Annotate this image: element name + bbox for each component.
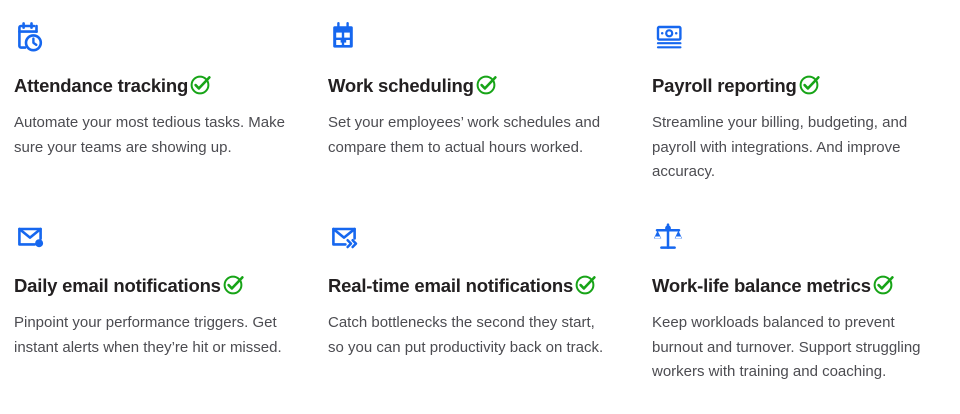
feature-body: Keep workloads balanced to prevent burno… — [652, 311, 938, 385]
feature-body: Catch bottlenecks the second they start,… — [328, 311, 608, 360]
feature-heading: Attendance tracking — [14, 73, 300, 97]
feature-grid: Attendance tracking Automate your most t… — [0, 0, 960, 414]
check-circle-icon — [475, 73, 498, 96]
calendar-clock-icon — [14, 18, 60, 58]
feature-card-payroll-reporting: Payroll reporting Streamline your billin… — [644, 0, 960, 200]
feature-body: Automate your most tedious tasks. Make s… — [14, 111, 300, 160]
feature-card-work-scheduling: Work scheduling Set your employees’ work… — [322, 0, 644, 200]
feature-heading-text: Work scheduling — [328, 75, 474, 96]
feature-card-attendance-tracking: Attendance tracking Automate your most t… — [0, 0, 322, 200]
feature-body: Pinpoint your performance triggers. Get … — [14, 311, 300, 360]
feature-heading: Work scheduling — [328, 73, 622, 97]
feature-heading: Work-life balance metrics — [652, 273, 938, 297]
feature-heading-text: Real-time email notifications — [328, 275, 573, 296]
feature-body: Streamline your billing, budgeting, and … — [652, 111, 938, 185]
check-circle-icon — [798, 73, 821, 96]
check-circle-icon — [574, 273, 597, 296]
check-circle-icon — [872, 273, 895, 296]
feature-heading-text: Payroll reporting — [652, 75, 797, 96]
feature-card-work-life-balance-metrics: Work-life balance metrics Keep workloads… — [644, 200, 960, 414]
feature-card-realtime-email-notifications: Real-time email notifications Catch bott… — [322, 200, 644, 414]
feature-heading: Daily email notifications — [14, 273, 300, 297]
feature-heading-text: Daily email notifications — [14, 275, 221, 296]
feature-body: Set your employees’ work schedules and c… — [328, 111, 608, 160]
feature-heading: Real-time email notifications — [328, 273, 622, 297]
feature-heading: Payroll reporting — [652, 73, 938, 97]
calendar-grid-icon — [328, 18, 374, 58]
check-circle-icon — [189, 73, 212, 96]
balance-scale-icon — [652, 218, 698, 258]
feature-card-daily-email-notifications: Daily email notifications Pinpoint your … — [0, 200, 322, 414]
envelope-dot-icon — [14, 218, 60, 258]
banknote-icon — [652, 18, 698, 58]
feature-heading-text: Attendance tracking — [14, 75, 188, 96]
check-circle-icon — [222, 273, 245, 296]
envelope-fastforward-icon — [328, 218, 374, 258]
feature-heading-text: Work-life balance metrics — [652, 275, 871, 296]
